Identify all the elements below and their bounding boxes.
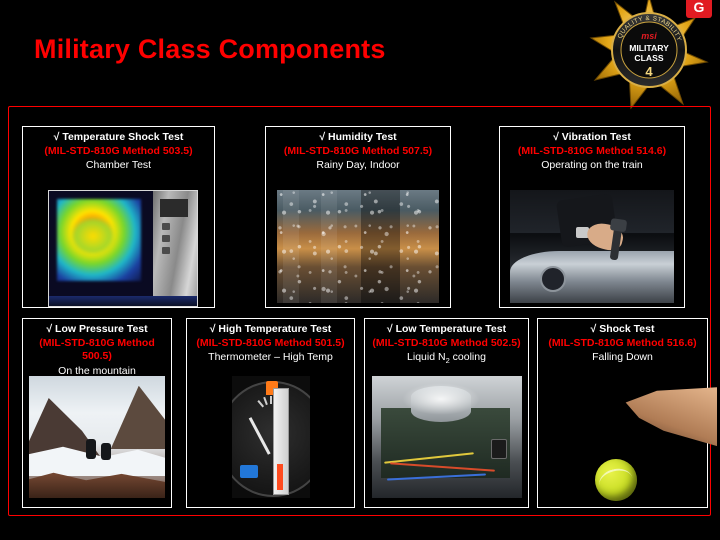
card-standard: (MIL-STD-810G Method 514.6) — [503, 145, 681, 159]
card-standard: (MIL-STD-810G Method 501.5) — [190, 337, 351, 351]
card-caption: Operating on the train — [503, 159, 681, 173]
badge-svg: QUALITY & STABILITY msi MILITARY CLASS 4… — [586, 0, 712, 112]
badge-corner-letter: G — [694, 0, 705, 15]
card-title: √ Vibration Test — [503, 131, 681, 145]
card-title: √ Shock Test — [541, 323, 704, 337]
military-class-badge: QUALITY & STABILITY msi MILITARY CLASS 4… — [586, 0, 712, 112]
badge-brand: msi — [641, 31, 657, 41]
badge-line2: CLASS — [634, 53, 663, 63]
card-shock-test: √ Shock Test (MIL-STD-810G Method 516.6)… — [537, 318, 708, 508]
liquid-nitrogen-board-photo — [372, 376, 522, 498]
rainy-window-photo — [277, 190, 439, 303]
card-standard: (MIL-STD-810G Method 507.5) — [269, 145, 447, 159]
badge-level: 4 — [645, 64, 653, 79]
card-caption: Chamber Test — [26, 159, 211, 173]
card-standard: (MIL-STD-810G Method 503.5) — [26, 145, 211, 159]
card-caption: Thermometer – High Temp — [190, 351, 351, 365]
card-title: √ High Temperature Test — [190, 323, 351, 337]
card-caption-suffix: cooling — [450, 351, 486, 363]
card-title: √ Humidity Test — [269, 131, 447, 145]
falling-ball-photo — [538, 377, 707, 505]
card-standard: (MIL-STD-810G Method 516.6) — [541, 337, 704, 351]
thermal-chamber-photo — [48, 190, 198, 307]
train-cab-photo — [510, 190, 674, 303]
thermometer-gauge-photo — [232, 376, 310, 498]
card-title: √ Low Pressure Test — [26, 323, 168, 337]
slide: Military Class Components — [0, 0, 720, 540]
page-title: Military Class Components — [34, 34, 386, 65]
card-standard: (MIL-STD-810G Method 500.5) — [26, 337, 168, 364]
card-title: √ Temperature Shock Test — [26, 131, 211, 145]
card-caption: Rainy Day, Indoor — [269, 159, 447, 173]
card-standard: (MIL-STD-810G Method 502.5) — [368, 337, 525, 351]
card-caption-prefix: Liquid N — [407, 351, 446, 363]
badge-line1: MILITARY — [629, 43, 669, 53]
card-caption: Liquid N2 cooling — [368, 351, 525, 368]
card-caption: Falling Down — [541, 351, 704, 365]
card-title: √ Low Temperature Test — [368, 323, 525, 337]
mountain-climbers-photo — [29, 376, 165, 498]
